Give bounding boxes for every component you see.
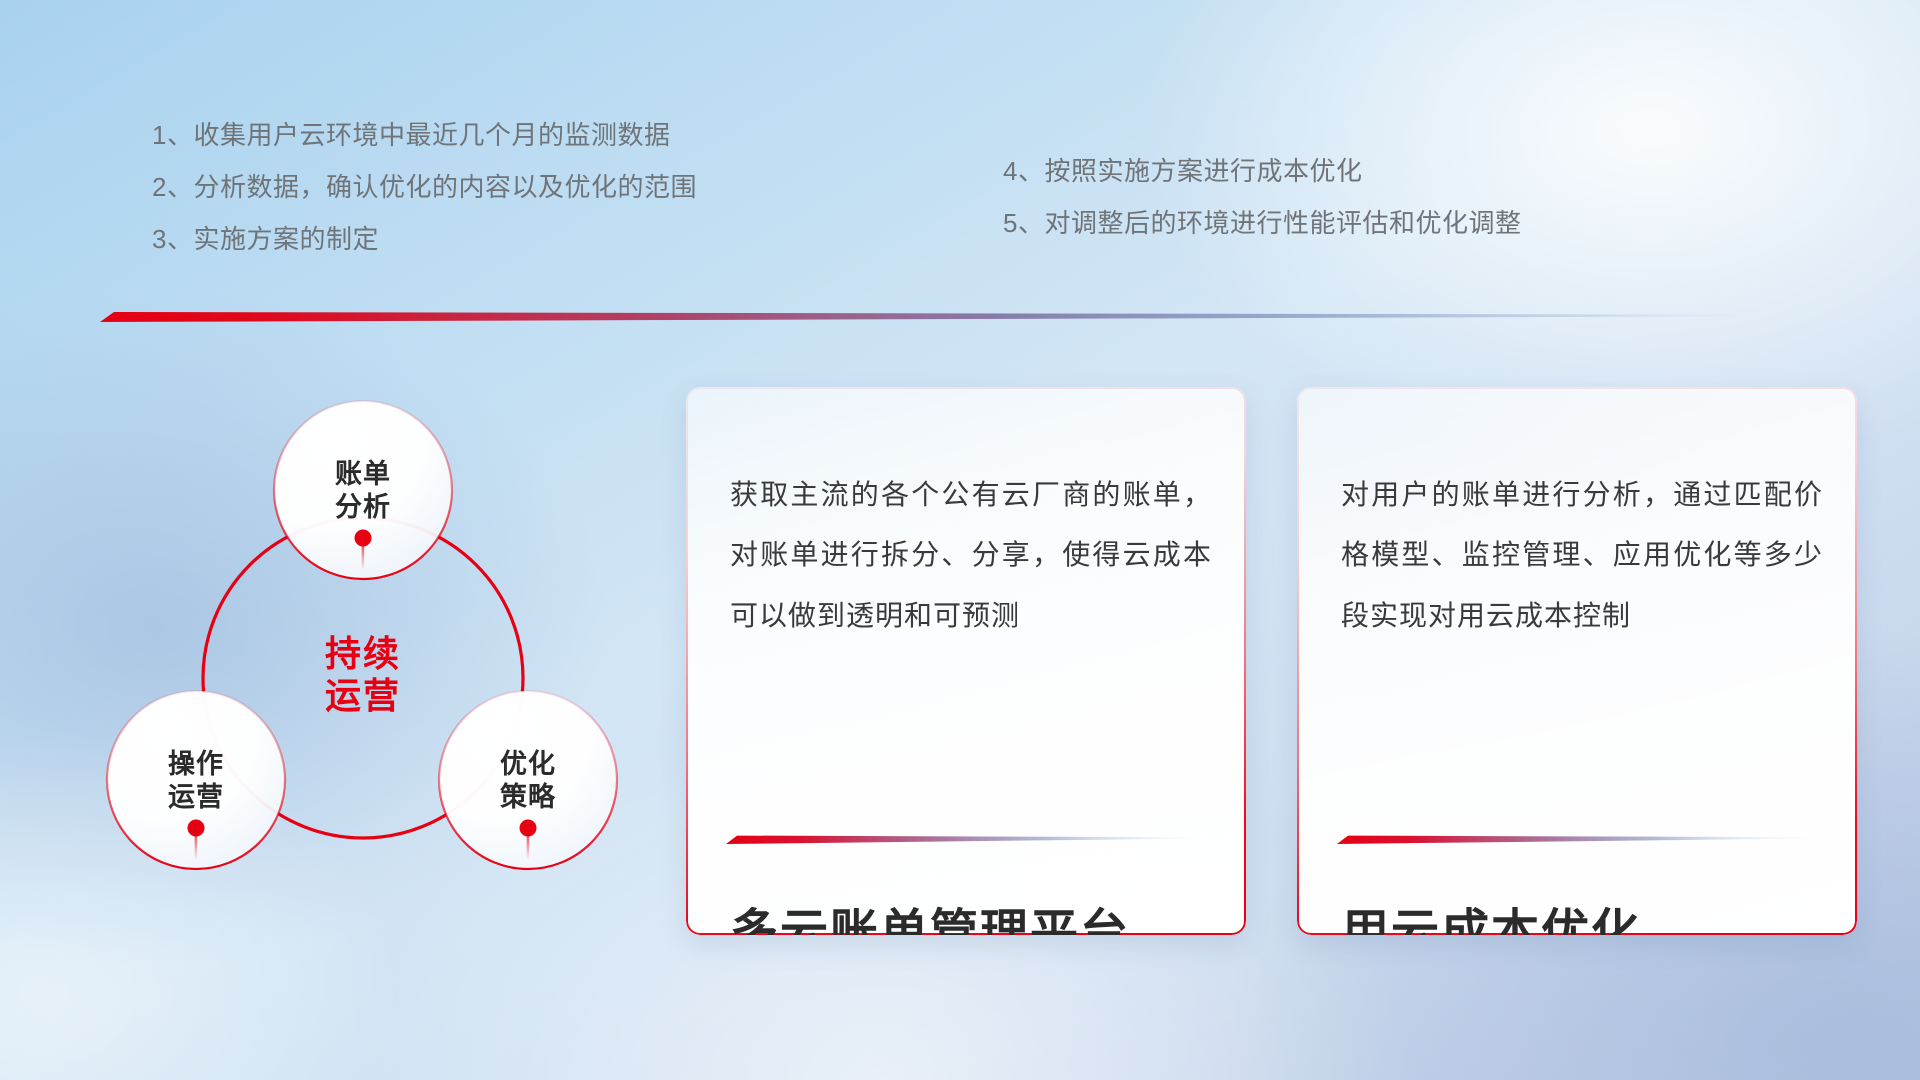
step-item-4: 4、按照实施方案进行成本优化: [1003, 158, 1521, 184]
card-1-title: 多云账单管理平台: [730, 892, 1130, 935]
card-2-divider-rule: [1337, 835, 1807, 844]
dot-marker-right: [520, 820, 537, 837]
top-divider-rule: [100, 311, 1740, 322]
steps-right-column: 4、按照实施方案进行成本优化 5、对调整后的环境进行性能评估和优化调整: [1003, 158, 1521, 262]
step-item-2: 2、分析数据，确认优化的内容以及优化的范围: [152, 174, 697, 200]
card-2-title: 用云成本优化: [1341, 892, 1641, 935]
dot-marker-top: [355, 530, 372, 547]
steps-left-column: 1、收集用户云环境中最近几个月的监测数据 2、分析数据，确认优化的内容以及优化的…: [152, 122, 697, 278]
step-item-1: 1、收集用户云环境中最近几个月的监测数据: [152, 122, 697, 148]
step-item-5: 5、对调整后的环境进行性能评估和优化调整: [1003, 210, 1521, 236]
dot-marker-left: [188, 820, 205, 837]
card-1-divider-rule: [726, 835, 1196, 844]
diagram-center-label: 持续 运营: [273, 633, 453, 718]
step-item-3: 3、实施方案的制定: [152, 226, 697, 252]
card-cloud-cost-optimization[interactable]: 对用户的账单进行分析，通过匹配价格模型、监控管理、应用优化等多少段实现对用云成本…: [1297, 387, 1857, 935]
continuous-operation-diagram: 账单 分析 操作 运营 优化 策略 持续 运营: [96, 350, 656, 950]
card-2-body-text: 对用户的账单进行分析，通过匹配价格模型、监控管理、应用优化等多少段实现对用云成本…: [1341, 465, 1823, 646]
card-multi-cloud-billing-platform[interactable]: 获取主流的各个公有云厂商的账单，对账单进行拆分、分享，使得云成本可以做到透明和可…: [686, 387, 1246, 935]
card-1-body-text: 获取主流的各个公有云厂商的账单，对账单进行拆分、分享，使得云成本可以做到透明和可…: [730, 465, 1212, 646]
